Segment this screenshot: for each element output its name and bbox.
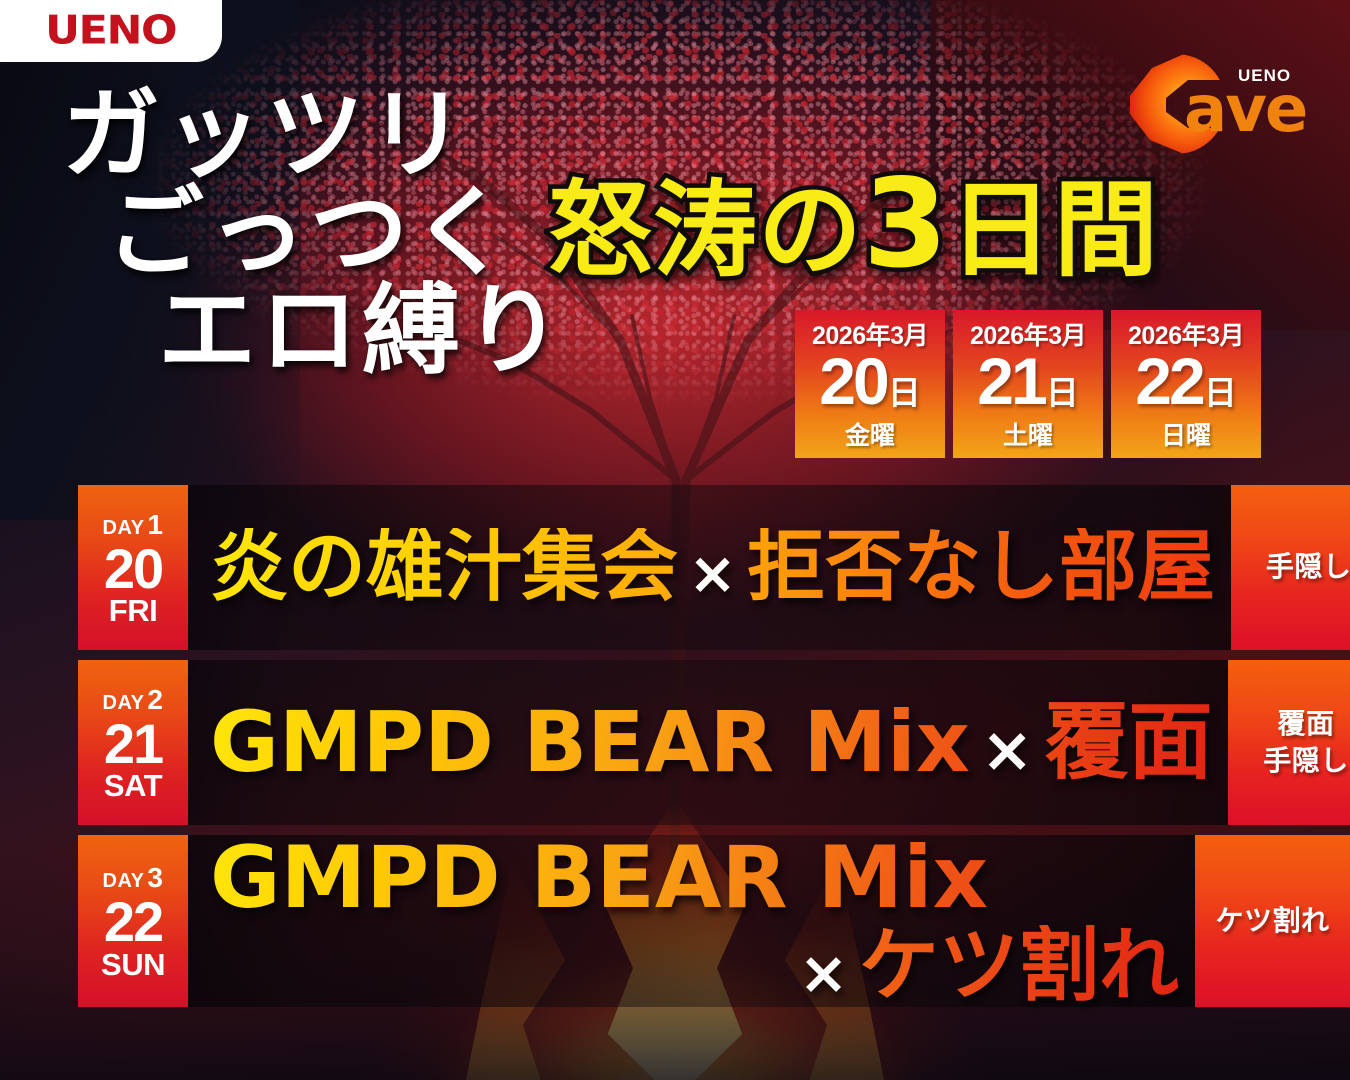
event-title-area: GMPD BEAR Mix ×ケツ割れ <box>188 835 1195 1007</box>
schedule-list: DAY1 20 FRI 炎の雄汁集会×拒否なし部屋 手隠し DAY2 21 <box>0 485 1350 1017</box>
event-title-line-secondary: ×ケツ割れ <box>210 925 1179 1007</box>
date-day-group: 22 日 <box>1135 350 1236 414</box>
headline-banner: 怒涛の3日間 <box>548 163 1159 285</box>
event-title-part2: 拒否なし部屋 <box>747 522 1215 612</box>
main-title: ガッツリ ごっつく エロ縛り <box>62 88 566 378</box>
headline-number: 3 <box>863 153 949 295</box>
schedule-row[interactable]: DAY2 21 SAT GMPD BEAR Mix×覆面 覆面 手隠し <box>0 660 1350 825</box>
event-title-area: 炎の雄汁集会×拒否なし部屋 <box>188 485 1231 650</box>
day-badge-number: 1 <box>147 509 163 541</box>
promo-banner: UENO ave UENO ガッツリ ごっつく エロ縛り 怒涛の3日間 2026… <box>0 0 1350 1080</box>
event-title-part1: 炎の雄汁集会 <box>210 522 678 612</box>
main-title-line-3: エロ縛り <box>158 284 566 378</box>
event-separator-icon: × <box>788 943 859 1003</box>
tag-box: 手隠し <box>1231 485 1350 650</box>
date-chip-row: 2026年3月 20 日 金曜 2026年3月 21 日 土曜 2026年3月 … <box>795 310 1261 458</box>
event-title-part1: GMPD BEAR Mix <box>210 693 970 791</box>
day-badge-date: 22 <box>104 896 162 948</box>
tag-label: 手隠し <box>1263 743 1349 780</box>
day-badge-weekday: SUN <box>101 949 165 980</box>
main-title-line-1: ガッツリ <box>62 88 566 182</box>
date-chip[interactable]: 2026年3月 21 日 土曜 <box>953 310 1103 458</box>
tag-box: 覆面 手隠し <box>1228 660 1350 825</box>
date-day-unit: 日 <box>1046 366 1079 414</box>
event-title-line: 炎の雄汁集会×拒否なし部屋 <box>210 528 1215 608</box>
event-separator-icon: × <box>678 544 747 603</box>
tag-box: ケツ割れ <box>1195 835 1350 1007</box>
event-title-area: GMPD BEAR Mix×覆面 <box>188 660 1228 825</box>
event-separator-icon: × <box>970 718 1044 781</box>
headline-suffix: 日間 <box>949 169 1159 291</box>
date-day-number: 20 <box>819 350 886 413</box>
day-badge: DAY2 21 SAT <box>78 660 188 825</box>
date-day-number: 22 <box>1135 350 1202 413</box>
date-day-number: 21 <box>977 350 1044 413</box>
date-day-group: 20 日 <box>819 350 920 414</box>
day-badge-weekday: SAT <box>104 770 162 801</box>
main-title-line-2: ごっつく <box>106 186 566 280</box>
date-day-group: 21 日 <box>977 350 1078 414</box>
day-badge-date: 21 <box>104 718 162 770</box>
date-weekday: 日曜 <box>1161 416 1211 452</box>
event-title-part2: ケツ割れ <box>859 919 1179 1012</box>
cave-logo-ueno: UENO <box>1238 66 1291 86</box>
day-badge-weekday: FRI <box>109 595 157 626</box>
event-title-line: GMPD BEAR Mix <box>210 835 1179 923</box>
event-title-line: GMPD BEAR Mix×覆面 <box>210 700 1212 786</box>
tag-label: 手隠し <box>1266 549 1350 586</box>
day-badge-label-group: DAY2 <box>103 684 164 716</box>
day-badge-number: 2 <box>147 684 163 716</box>
date-chip[interactable]: 2026年3月 22 日 日曜 <box>1111 310 1261 458</box>
date-weekday: 土曜 <box>1003 416 1053 452</box>
tag-label: ケツ割れ <box>1215 903 1329 940</box>
date-chip[interactable]: 2026年3月 20 日 金曜 <box>795 310 945 458</box>
event-title-inner: 炎の雄汁集会×拒否なし部屋 <box>210 528 1215 608</box>
date-day-unit: 日 <box>1204 366 1237 414</box>
day-badge: DAY1 20 FRI <box>78 485 188 650</box>
day-badge: DAY3 22 SUN <box>78 835 188 1007</box>
event-title-part1: GMPD BEAR Mix <box>210 828 988 928</box>
day-badge-label-group: DAY1 <box>103 509 164 541</box>
date-weekday: 金曜 <box>845 416 895 452</box>
schedule-row[interactable]: DAY1 20 FRI 炎の雄汁集会×拒否なし部屋 手隠し <box>0 485 1350 650</box>
date-day-unit: 日 <box>888 366 921 414</box>
cave-logo-ave: ave <box>1184 78 1306 142</box>
day-badge-date: 20 <box>104 543 162 595</box>
schedule-row[interactable]: DAY3 22 SUN GMPD BEAR Mix ×ケツ割れ ケツ割れ <box>0 835 1350 1007</box>
headline-prefix: 怒涛の <box>548 169 863 291</box>
event-title-inner: GMPD BEAR Mix ×ケツ割れ <box>210 835 1179 1006</box>
ueno-wordmark: UENO <box>46 9 177 54</box>
tag-label: 覆面 <box>1277 706 1334 743</box>
ueno-logo-tab[interactable]: UENO <box>0 0 222 62</box>
event-title-part2: 覆面 <box>1044 693 1212 791</box>
event-title-inner: GMPD BEAR Mix×覆面 <box>210 700 1212 786</box>
cave-logo[interactable]: ave UENO <box>1126 52 1316 158</box>
